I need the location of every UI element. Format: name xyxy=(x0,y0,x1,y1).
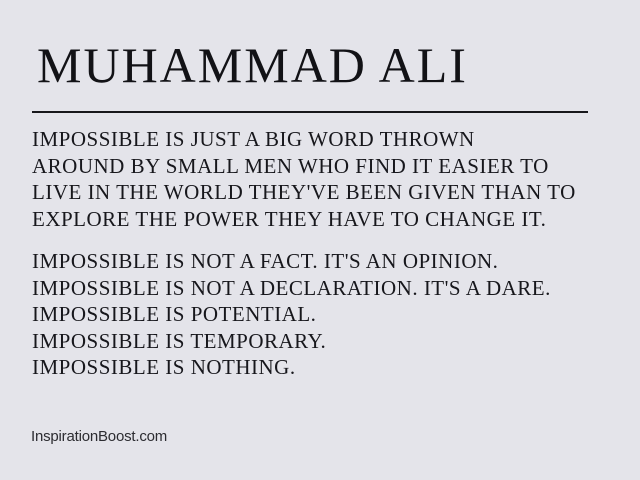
quote-line: EXPLORE THE POWER THEY HAVE TO CHANGE IT… xyxy=(32,206,622,233)
quote-card: MUHAMMAD ALI IMPOSSIBLE IS JUST A BIG WO… xyxy=(0,0,640,480)
quote-line: LIVE IN THE WORLD THEY'VE BEEN GIVEN THA… xyxy=(32,179,622,206)
site-watermark: InspirationBoost.com xyxy=(31,428,167,446)
quote-line: IMPOSSIBLE IS NOT A DECLARATION. IT'S A … xyxy=(32,275,622,302)
quote-line: IMPOSSIBLE IS TEMPORARY. xyxy=(32,328,622,355)
quote-paragraph-2: IMPOSSIBLE IS NOT A FACT. IT'S AN OPINIO… xyxy=(32,248,622,381)
title-divider xyxy=(32,111,588,113)
quote-paragraph-1: IMPOSSIBLE IS JUST A BIG WORD THROWN ARO… xyxy=(32,126,622,232)
quote-body: IMPOSSIBLE IS JUST A BIG WORD THROWN ARO… xyxy=(32,126,622,381)
quote-line: IMPOSSIBLE IS NOT A FACT. IT'S AN OPINIO… xyxy=(32,248,622,275)
title-block: MUHAMMAD ALI xyxy=(32,36,612,94)
quote-line: IMPOSSIBLE IS POTENTIAL. xyxy=(32,301,622,328)
page-title: MUHAMMAD ALI xyxy=(32,36,612,94)
quote-line: AROUND BY SMALL MEN WHO FIND IT EASIER T… xyxy=(32,153,622,180)
quote-line: IMPOSSIBLE IS JUST A BIG WORD THROWN xyxy=(32,126,622,153)
quote-line: IMPOSSIBLE IS NOTHING. xyxy=(32,354,622,381)
